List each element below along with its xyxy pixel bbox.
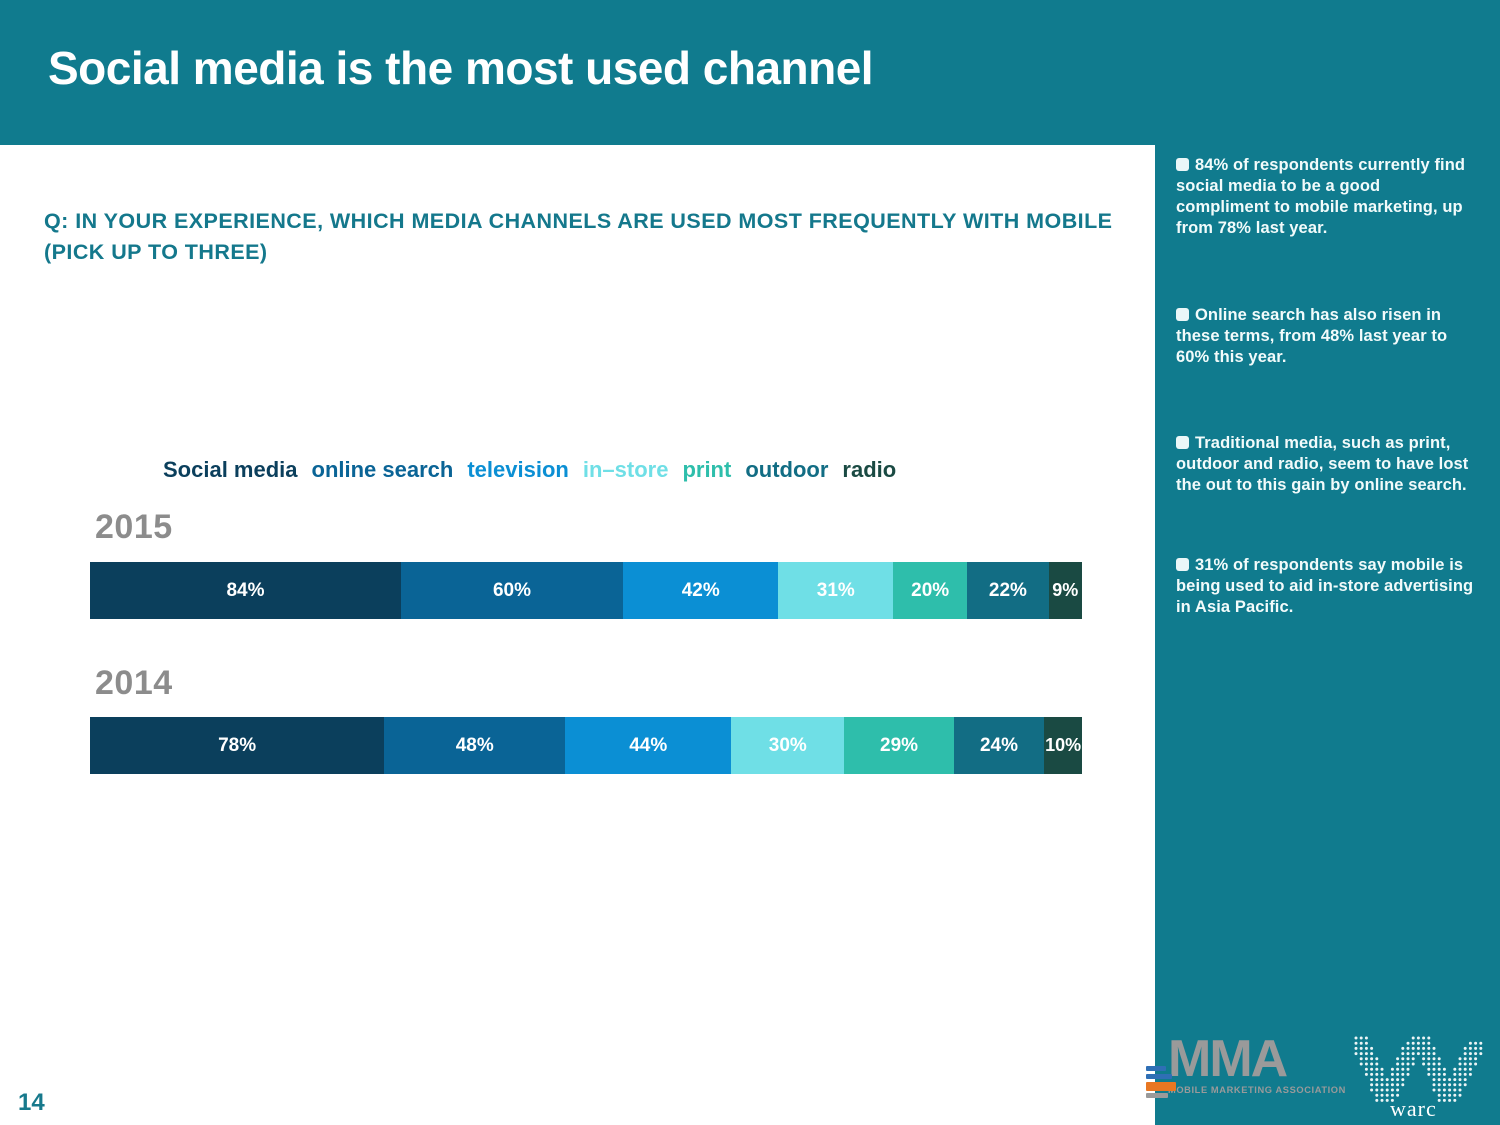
bar-segment-television: 44% <box>565 717 731 774</box>
bar-segment-value: 42% <box>682 580 720 602</box>
bar-segment-social-media: 84% <box>90 562 401 619</box>
sidebar-bullet-text: 84% of respondents currently find social… <box>1176 156 1465 237</box>
bar-segment-value: 31% <box>817 580 855 602</box>
bullet-square-icon <box>1176 158 1189 171</box>
bullet-square-icon <box>1176 308 1189 321</box>
page-number: 14 <box>18 1089 45 1117</box>
mma-subtitle: MOBILE MARKETING ASSOCIATION <box>1168 1085 1346 1095</box>
bullet-square-icon <box>1176 436 1189 449</box>
bar-segment-value: 48% <box>456 735 494 757</box>
warc-wordmark: warc <box>1390 1096 1437 1122</box>
bar-segment-value: 20% <box>911 580 949 602</box>
bar-segment-online-search: 60% <box>401 562 623 619</box>
chart-legend: Social mediaonline searchtelevisionin–st… <box>163 457 896 483</box>
bar-segment-value: 78% <box>218 735 256 757</box>
year-label-2015: 2015 <box>95 508 173 547</box>
legend-item-outdoor: outdoor <box>745 457 828 482</box>
sidebar-bullet-3: Traditional media, such as print, outdoo… <box>1176 433 1476 496</box>
bar-segment-social-media: 78% <box>90 717 384 774</box>
bar-segment-value: 29% <box>880 735 918 757</box>
rail-top-filler <box>1155 0 1500 145</box>
legend-item-television: television <box>467 457 568 482</box>
bar-segment-radio: 9% <box>1049 562 1082 619</box>
legend-item-print: print <box>682 457 731 482</box>
bar-segment-outdoor: 24% <box>954 717 1045 774</box>
slide-root: Social media is the most used channel Q:… <box>0 0 1500 1125</box>
survey-question: Q: In your experience, which media chann… <box>44 206 1144 267</box>
bar-segment-value: 60% <box>493 580 531 602</box>
bar-segment-print: 20% <box>893 562 967 619</box>
bullet-square-icon <box>1176 558 1189 571</box>
bar-segment-in-store: 31% <box>778 562 893 619</box>
legend-item-radio: radio <box>842 457 896 482</box>
bar-segment-value: 22% <box>989 580 1027 602</box>
legend-item-in-store: in–store <box>583 457 669 482</box>
mma-accent-bar-1 <box>1146 1066 1166 1071</box>
mma-accent-bar-4 <box>1146 1093 1168 1098</box>
bar-segment-value: 10% <box>1045 735 1081 756</box>
year-label-2014: 2014 <box>95 664 173 703</box>
bar-segment-value: 30% <box>769 735 807 757</box>
bar-segment-television: 42% <box>623 562 778 619</box>
bar-segment-in-store: 30% <box>731 717 844 774</box>
logo-area: MMA MOBILE MARKETING ASSOCIATION warc <box>1168 1032 1488 1118</box>
legend-item-social-media: Social media <box>163 457 298 482</box>
bar-segment-online-search: 48% <box>384 717 565 774</box>
sidebar-bullet-text: Traditional media, such as print, outdoo… <box>1176 434 1468 494</box>
bar-row-2014: 78%48%44%30%29%24%10% <box>90 717 1082 774</box>
bar-segment-value: 9% <box>1052 580 1078 601</box>
sidebar-bullet-2: Online search has also risen in these te… <box>1176 305 1476 368</box>
sidebar-bullet-1: 84% of respondents currently find social… <box>1176 155 1476 239</box>
bar-segment-print: 29% <box>844 717 953 774</box>
page-title: Social media is the most used channel <box>48 44 873 92</box>
mma-accent-bar-2 <box>1146 1074 1172 1079</box>
legend-item-online-search: online search <box>312 457 454 482</box>
bar-segment-value: 84% <box>226 580 264 602</box>
bar-row-2015: 84%60%42%31%20%22%9% <box>90 562 1082 619</box>
bar-segment-radio: 10% <box>1044 717 1082 774</box>
bar-segment-value: 24% <box>980 735 1018 757</box>
sidebar-bullet-text: Online search has also risen in these te… <box>1176 306 1447 366</box>
bar-segment-outdoor: 22% <box>967 562 1048 619</box>
sidebar-bullet-4: 31% of respondents say mobile is being u… <box>1176 555 1476 618</box>
insights-sidebar <box>1155 145 1500 1125</box>
mma-logo: MMA MOBILE MARKETING ASSOCIATION <box>1168 1036 1346 1095</box>
sidebar-bullet-text: 31% of respondents say mobile is being u… <box>1176 556 1473 616</box>
mma-accent-bar-3 <box>1146 1082 1176 1091</box>
mma-wordmark: MMA <box>1168 1036 1346 1084</box>
bar-segment-value: 44% <box>629 735 667 757</box>
